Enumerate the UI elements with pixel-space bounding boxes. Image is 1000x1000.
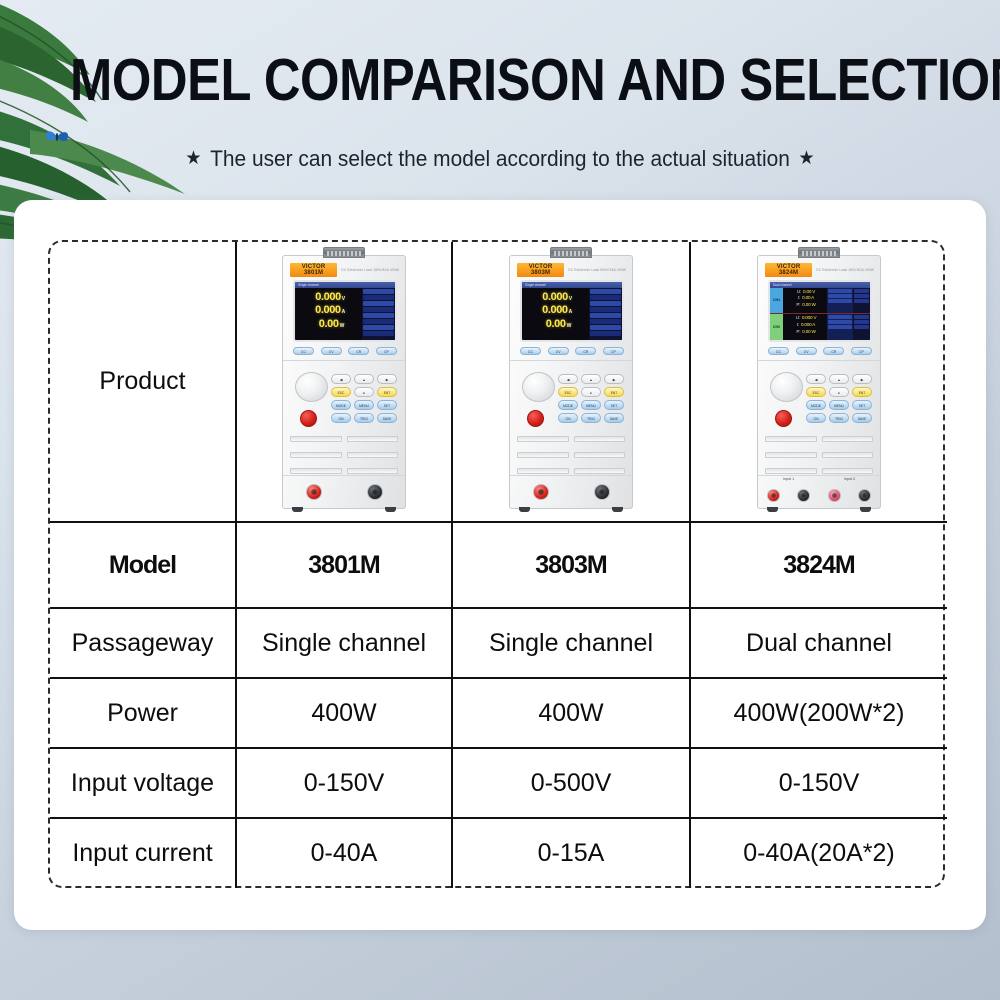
function-key-cr: CR: [348, 347, 369, 355]
key-save: SAVE: [852, 413, 872, 423]
function-key-cc: CC: [293, 347, 314, 355]
lcd-side-menu: [362, 288, 395, 340]
lcd-title-text: Single channel: [522, 283, 546, 287]
ventilation-grille: [290, 436, 398, 474]
key-trig: TRIG: [829, 413, 849, 423]
function-key-cr: CR: [823, 347, 844, 355]
rotary-knob: [522, 372, 555, 402]
butterfly-icon: [44, 128, 70, 146]
function-key-cv: CV: [796, 347, 817, 355]
lcd-menu-item: [363, 331, 394, 336]
terminal-input1-positive: [767, 489, 780, 502]
key-right: ▶: [852, 374, 872, 384]
key-menu: MENU: [581, 400, 601, 410]
ventilation-grille: [765, 436, 873, 474]
power-3824m: 400W(200W*2): [690, 678, 947, 748]
passageway-3801m: Single channel: [236, 608, 452, 678]
lcd-menu-item: [590, 313, 621, 318]
lcd-ch1-power: P:0.00 W: [785, 302, 827, 309]
device-function-keys: CC CV CR CP: [520, 347, 624, 355]
lcd-title-text: Single channel: [295, 283, 319, 287]
comparison-table: Product VICTOR 3801M DC Electronic Load …: [50, 242, 947, 888]
lcd-menu-item: [363, 301, 394, 306]
lcd-readout-voltage: 0.000V: [300, 291, 360, 305]
lcd-channel-2-tag: CH2: [770, 314, 783, 340]
row-label-input-voltage: Input voltage: [50, 748, 236, 818]
function-key-cv: CV: [548, 347, 569, 355]
lcd-channel-1: CH1 U:0.00 V I:0.00 A P:0.00 W: [770, 288, 870, 315]
brand-logo: VICTOR 3803M: [517, 263, 564, 277]
brand-logo: VICTOR 3801M: [290, 263, 337, 277]
input-current-3803m: 0-15A: [452, 818, 690, 888]
panel-divider: [758, 360, 880, 361]
key-left: ◀: [558, 374, 578, 384]
key-mode: MODE: [558, 400, 578, 410]
device-handle: [550, 247, 592, 258]
terminal-input1-negative: [797, 489, 810, 502]
key-menu: MENU: [829, 400, 849, 410]
star-right-icon: ★: [798, 148, 814, 169]
key-set: SET: [852, 400, 872, 410]
key-save: SAVE: [377, 413, 397, 423]
model-value-3801m: 3801M: [236, 522, 452, 608]
panel-divider: [510, 360, 632, 361]
input-voltage-3801m: 0-150V: [236, 748, 452, 818]
device-brand-row: VICTOR 3801M DC Electronic Load 150V/40A…: [290, 265, 399, 276]
device-3801m: VICTOR 3801M DC Electronic Load 150V/40A…: [282, 255, 406, 509]
model-value-3803m: 3803M: [452, 522, 690, 608]
device-foot: [385, 507, 396, 512]
lcd-menu-item: [590, 331, 621, 336]
key-up: ▲: [829, 374, 849, 384]
power-button: [300, 410, 317, 427]
function-key-cp: CP: [376, 347, 397, 355]
key-ent: ENT: [604, 387, 624, 397]
function-key-cr: CR: [575, 347, 596, 355]
key-enter-dot: ●: [581, 387, 601, 397]
key-menu: MENU: [354, 400, 374, 410]
lcd-ch1-submenu: [853, 288, 870, 314]
lcd-ch2-current: I:0.000 A: [785, 322, 827, 329]
device-foot: [292, 507, 303, 512]
lcd-main-readouts: 0.000V 0.000A 0.00W: [522, 288, 589, 340]
passageway-3803m: Single channel: [452, 608, 690, 678]
device-3824m: VICTOR 3824M DC Electronic Load 150V/40A…: [757, 255, 881, 509]
terminal-negative: [367, 484, 383, 500]
device-keypad: ◀ ▲ ▶ ESC ● ENT MODE MENU SET ON TRIG: [331, 374, 397, 423]
input-current-3801m: 0-40A: [236, 818, 452, 888]
device-brand-row: VICTOR 3824M DC Electronic Load 150V/40A…: [765, 265, 874, 276]
lcd-readout-current: 0.000A: [300, 304, 360, 318]
power-button: [775, 410, 792, 427]
input-voltage-3803m: 0-500V: [452, 748, 690, 818]
key-set: SET: [377, 400, 397, 410]
table-row-model: Model 3801M 3803M 3824M: [50, 522, 947, 608]
page-title: MODEL COMPARISON AND SELECTION: [70, 46, 930, 114]
key-ent: ENT: [852, 387, 872, 397]
brand-sublabel: DC Electronic Load 500V/15A 400W: [568, 268, 626, 272]
row-label-model: Model: [50, 522, 236, 608]
key-right: ▶: [604, 374, 624, 384]
brand-sublabel: DC Electronic Load 150V/40A 400W: [341, 268, 399, 272]
key-left: ◀: [331, 374, 351, 384]
lcd-readout-voltage: 0.000V: [527, 291, 587, 305]
row-label-passageway: Passageway: [50, 608, 236, 678]
key-on: ON: [331, 413, 351, 423]
device-3803m: VICTOR 3803M DC Electronic Load 500V/15A…: [509, 255, 633, 509]
row-label-input-current: Input current: [50, 818, 236, 888]
lcd-menu-item: [590, 325, 621, 330]
lcd-menu-item: [590, 295, 621, 300]
lcd-ch2-menu: [827, 314, 853, 340]
lcd-side-menu: [589, 288, 622, 340]
page-subtitle: ★The user can select the model according…: [25, 146, 975, 172]
key-save: SAVE: [604, 413, 624, 423]
device-terminals: [510, 475, 632, 508]
row-label-product: Product: [50, 242, 236, 522]
function-key-cp: CP: [851, 347, 872, 355]
page-subtitle-text: The user can select the model according …: [210, 146, 790, 171]
table-row-product: Product VICTOR 3801M DC Electronic Load …: [50, 242, 947, 522]
key-enter-dot: ●: [354, 387, 374, 397]
lcd-title-text: Dual channel: [770, 283, 792, 287]
device-handle: [323, 247, 365, 258]
lcd-menu-item: [363, 289, 394, 294]
table-row-power: Power 400W 400W 400W(200W*2): [50, 678, 947, 748]
lcd-ch1-voltage: U:0.00 V: [785, 289, 827, 296]
input-current-3824m: 0-40A(20A*2): [690, 818, 947, 888]
lcd-ch2-power: P:0.00 W: [785, 329, 827, 336]
device-lcd-screen: Single channel 0.000V 0.000A 0.00W: [293, 280, 397, 342]
device-lcd-screen: Single channel 0.000V 0.000A 0.00W: [520, 280, 624, 342]
device-handle: [798, 247, 840, 258]
key-up: ▲: [581, 374, 601, 384]
lcd-menu-item: [363, 325, 394, 330]
input-voltage-3824m: 0-150V: [690, 748, 947, 818]
product-image-3803m: VICTOR 3803M DC Electronic Load 500V/15A…: [452, 242, 690, 522]
lcd-menu-item: [590, 319, 621, 324]
key-trig: TRIG: [354, 413, 374, 423]
star-left-icon: ★: [185, 148, 201, 169]
device-terminals: [283, 475, 405, 508]
passageway-3824m: Dual channel: [690, 608, 947, 678]
device-terminals: Input 1 Input 2: [758, 475, 880, 508]
key-trig: TRIG: [581, 413, 601, 423]
terminal-label-input2: Input 2: [819, 477, 880, 481]
function-key-cp: CP: [603, 347, 624, 355]
key-esc: ESC: [331, 387, 351, 397]
table-row-passageway: Passageway Single channel Single channel…: [50, 608, 947, 678]
lcd-menu-item: [363, 295, 394, 300]
terminal-positive: [533, 484, 549, 500]
rotary-knob: [295, 372, 328, 402]
product-image-3824m: VICTOR 3824M DC Electronic Load 150V/40A…: [690, 242, 947, 522]
key-mode: MODE: [806, 400, 826, 410]
lcd-menu-item: [590, 289, 621, 294]
model-value-3824m: 3824M: [690, 522, 947, 608]
function-key-cc: CC: [520, 347, 541, 355]
comparison-table-frame: Product VICTOR 3801M DC Electronic Load …: [48, 240, 945, 888]
lcd-menu-item: [590, 307, 621, 312]
key-esc: ESC: [806, 387, 826, 397]
terminal-positive: [306, 484, 322, 500]
function-key-cv: CV: [321, 347, 342, 355]
lcd-ch2-voltage: U:0.000 V: [785, 315, 827, 322]
device-foot: [860, 507, 871, 512]
key-on: ON: [806, 413, 826, 423]
page-root: MODEL COMPARISON AND SELECTION ★The user…: [0, 0, 1000, 1000]
brand-logo: VICTOR 3824M: [765, 263, 812, 277]
key-esc: ESC: [558, 387, 578, 397]
device-function-keys: CC CV CR CP: [293, 347, 397, 355]
device-keypad: ◀ ▲ ▶ ESC ● ENT MODE MENU SET ON TRIG: [806, 374, 872, 423]
key-set: SET: [604, 400, 624, 410]
device-foot: [612, 507, 623, 512]
key-up: ▲: [354, 374, 374, 384]
lcd-ch1-current: I:0.00 A: [785, 295, 827, 302]
lcd-readout-current: 0.000A: [527, 304, 587, 318]
lcd-menu-item: [363, 319, 394, 324]
rotary-knob: [770, 372, 803, 402]
device-brand-row: VICTOR 3803M DC Electronic Load 500V/15A…: [517, 265, 626, 276]
terminal-input2-negative: [858, 489, 871, 502]
lcd-ch2-submenu: [853, 314, 870, 340]
power-button: [527, 410, 544, 427]
table-row-input-voltage: Input voltage 0-150V 0-500V 0-150V: [50, 748, 947, 818]
terminal-labels: Input 1 Input 2: [758, 477, 880, 481]
key-ent: ENT: [377, 387, 397, 397]
terminal-label-input1: Input 1: [758, 477, 819, 481]
row-label-power: Power: [50, 678, 236, 748]
lcd-menu-item: [363, 313, 394, 318]
power-3803m: 400W: [452, 678, 690, 748]
device-foot: [767, 507, 778, 512]
key-right: ▶: [377, 374, 397, 384]
terminal-negative: [594, 484, 610, 500]
panel-divider: [283, 360, 405, 361]
ventilation-grille: [517, 436, 625, 474]
key-left: ◀: [806, 374, 826, 384]
lcd-menu-item: [590, 301, 621, 306]
terminal-input2-positive: [828, 489, 841, 502]
lcd-readout-power: 0.00W: [300, 318, 360, 332]
device-keypad: ◀ ▲ ▶ ESC ● ENT MODE MENU SET ON TRIG: [558, 374, 624, 423]
lcd-menu-item: [363, 307, 394, 312]
lcd-ch1-menu: [827, 288, 853, 314]
lcd-channel-2: CH2 U:0.000 V I:0.000 A P:0.00 W: [770, 314, 870, 340]
lcd-channel-1-tag: CH1: [770, 288, 783, 314]
brand-sublabel: DC Electronic Load 150V/40A 400W: [816, 268, 874, 272]
device-foot: [519, 507, 530, 512]
power-3801m: 400W: [236, 678, 452, 748]
lcd-main-readouts: 0.000V 0.000A 0.00W: [295, 288, 362, 340]
key-enter-dot: ●: [829, 387, 849, 397]
key-on: ON: [558, 413, 578, 423]
lcd-readout-power: 0.00W: [527, 318, 587, 332]
key-mode: MODE: [331, 400, 351, 410]
product-image-3801m: VICTOR 3801M DC Electronic Load 150V/40A…: [236, 242, 452, 522]
function-key-cc: CC: [768, 347, 789, 355]
device-lcd-screen: Dual channel CH1 U:0.00 V I:0.00 A P:0.0…: [768, 280, 872, 342]
device-function-keys: CC CV CR CP: [768, 347, 872, 355]
table-row-input-current: Input current 0-40A 0-15A 0-40A(20A*2): [50, 818, 947, 888]
